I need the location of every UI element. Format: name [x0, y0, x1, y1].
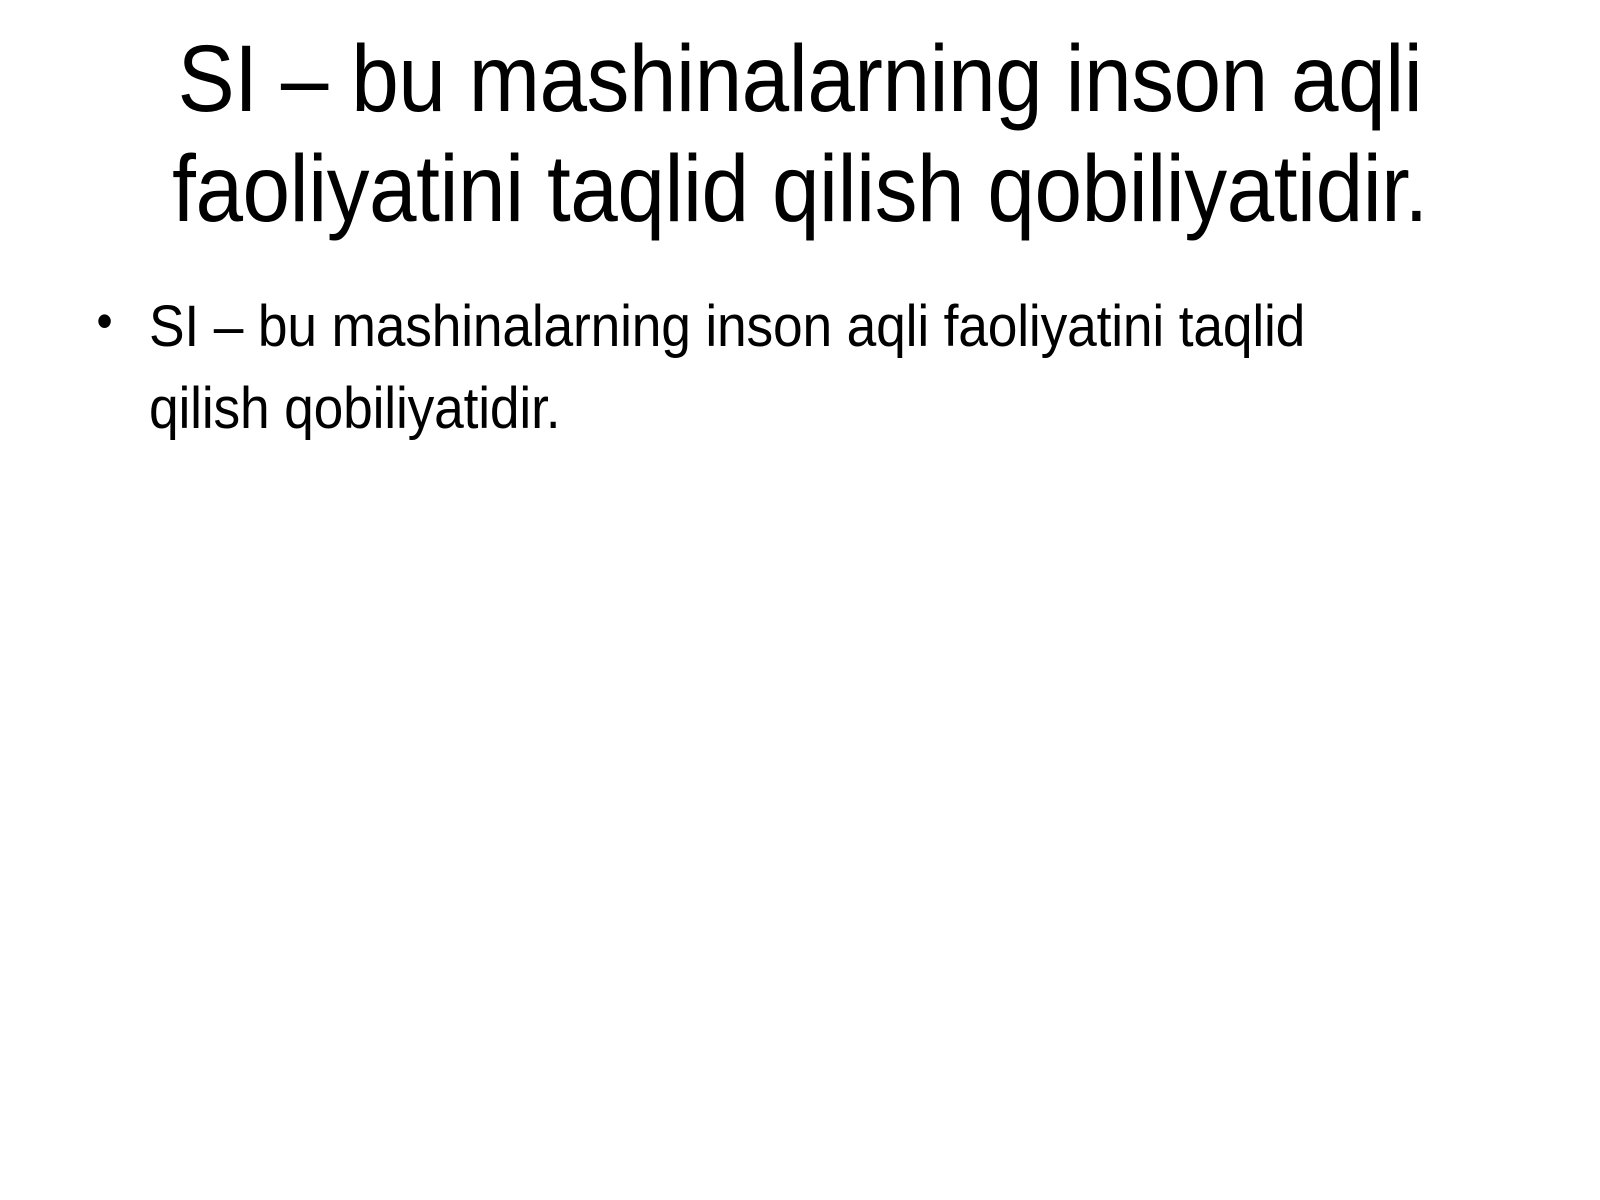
list-item-text: SI – bu mashinalarning inson aqli faoliy… [149, 294, 1305, 441]
slide-canvas: SI – bu mashinalarning inson aqli faoliy… [0, 0, 1600, 1200]
list-item: • SI – bu mashinalarning inson aqli faol… [80, 286, 1405, 451]
bullet-point-icon: • [97, 286, 113, 357]
slide-title: SI – bu mashinalarning inson aqli faoliy… [152, 24, 1448, 244]
bullet-list: • SI – bu mashinalarning inson aqli faol… [80, 286, 1520, 451]
body-content-placeholder: • SI – bu mashinalarning inson aqli faol… [80, 286, 1520, 451]
